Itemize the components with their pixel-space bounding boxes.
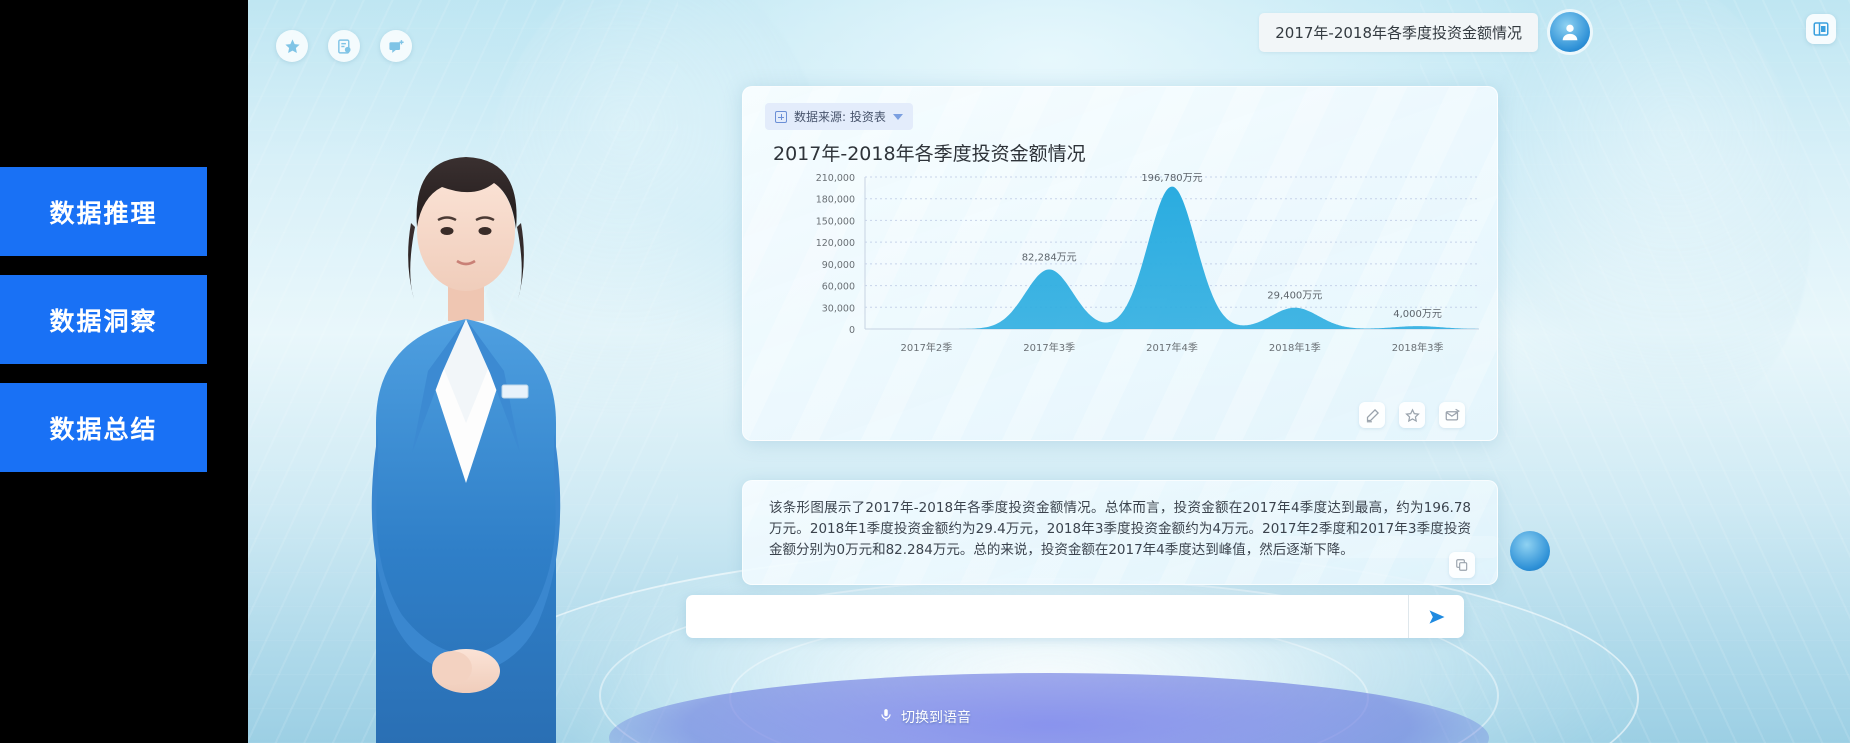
edit-icon[interactable] xyxy=(1359,402,1385,428)
data-source-chip[interactable]: 数据来源: 投资表 xyxy=(765,103,913,130)
svg-text:90,000: 90,000 xyxy=(822,260,855,271)
new-chat-icon[interactable] xyxy=(380,30,412,62)
svg-text:180,000: 180,000 xyxy=(816,195,855,206)
sidebar-item-label: 数据洞察 xyxy=(49,302,157,338)
chat-input-bar xyxy=(686,595,1464,638)
robot-head-right-decoration xyxy=(1470,0,1810,430)
star-icon[interactable] xyxy=(276,30,308,62)
user-avatar[interactable] xyxy=(1550,12,1590,52)
chart-plot-area: 030,00060,00090,000120,000150,000180,000… xyxy=(743,169,1498,369)
svg-text:29,400万元: 29,400万元 xyxy=(1267,291,1322,302)
copy-icon[interactable] xyxy=(1449,552,1475,578)
user-message-row: 2017年-2018年各季度投资金额情况 xyxy=(1259,12,1590,52)
svg-text:2017年4季: 2017年4季 xyxy=(1146,341,1198,354)
svg-text:2018年3季: 2018年3季 xyxy=(1392,341,1444,354)
svg-text:4,000万元: 4,000万元 xyxy=(1393,309,1442,320)
voice-toggle-button[interactable]: 切换到语音 xyxy=(879,707,971,727)
svg-text:196,780万元: 196,780万元 xyxy=(1141,173,1202,184)
report-icon[interactable] xyxy=(328,30,360,62)
chart-action-bar xyxy=(1359,402,1465,428)
svg-text:0: 0 xyxy=(849,325,855,336)
favorite-star-icon[interactable] xyxy=(1399,402,1425,428)
summary-card: 该条形图展示了2017年-2018年各季度投资金额情况。总体而言，投资金额在20… xyxy=(742,480,1498,585)
sidebar-item-label: 数据总结 xyxy=(49,410,157,446)
voice-toggle-label: 切换到语音 xyxy=(901,707,971,727)
chart-title: 2017年-2018年各季度投资金额情况 xyxy=(773,139,1086,166)
sidebar-item-data-reasoning[interactable]: 数据推理 xyxy=(0,167,207,256)
chart-svg: 030,00060,00090,000120,000150,000180,000… xyxy=(743,169,1498,369)
pending-message-avatar xyxy=(1510,531,1550,571)
sidebar-item-data-insight[interactable]: 数据洞察 xyxy=(0,275,207,364)
chart-card: 数据来源: 投资表 2017年-2018年各季度投资金额情况 030,00060… xyxy=(742,86,1498,441)
user-question-bubble: 2017年-2018年各季度投资金额情况 xyxy=(1259,13,1538,52)
data-source-label: 数据来源: 投资表 xyxy=(794,108,886,125)
svg-text:82,284万元: 82,284万元 xyxy=(1022,252,1077,263)
svg-text:2018年1季: 2018年1季 xyxy=(1269,341,1321,354)
chevron-down-icon[interactable] xyxy=(893,114,903,120)
svg-text:2017年2季: 2017年2季 xyxy=(900,341,952,354)
sidebar-item-data-summary[interactable]: 数据总结 xyxy=(0,383,207,472)
sidebar-item-label: 数据推理 xyxy=(49,194,157,230)
tech-overlay-left xyxy=(248,0,678,743)
svg-text:30,000: 30,000 xyxy=(822,303,855,314)
summary-text: 该条形图展示了2017年-2018年各季度投资金额情况。总体而言，投资金额在20… xyxy=(769,498,1471,561)
app-screen: 数据推理 数据洞察 数据总结 xyxy=(0,0,1850,743)
summary-action-bar xyxy=(1449,552,1475,578)
svg-text:60,000: 60,000 xyxy=(822,282,855,293)
microphone-icon xyxy=(879,707,893,727)
share-mail-icon[interactable] xyxy=(1439,402,1465,428)
svg-text:210,000: 210,000 xyxy=(816,173,855,184)
svg-text:2017年3季: 2017年3季 xyxy=(1023,341,1075,354)
svg-text:150,000: 150,000 xyxy=(816,216,855,227)
top-toolbar xyxy=(276,30,412,62)
panel-layout-icon[interactable] xyxy=(1806,14,1836,44)
send-icon[interactable] xyxy=(1408,595,1464,638)
left-sidebar: 数据推理 数据洞察 数据总结 xyxy=(0,0,248,743)
svg-text:120,000: 120,000 xyxy=(816,238,855,249)
voice-dock-glow xyxy=(609,673,1489,743)
table-icon xyxy=(775,111,787,123)
chat-input[interactable] xyxy=(686,595,1408,638)
